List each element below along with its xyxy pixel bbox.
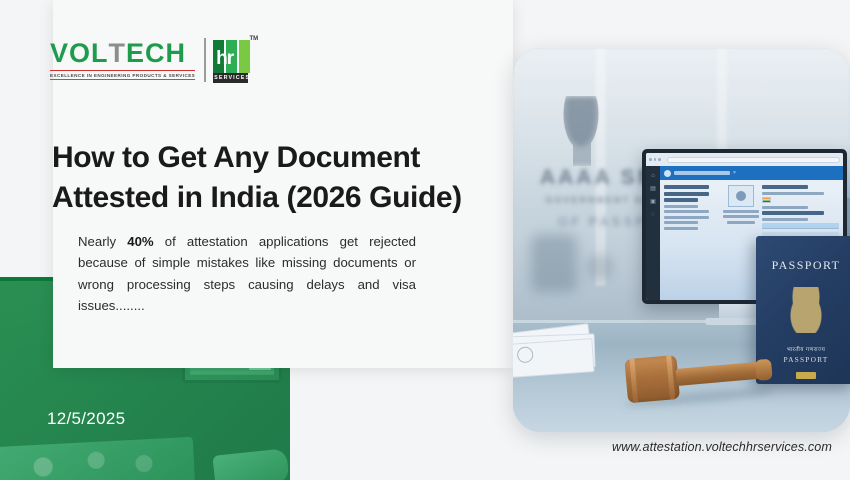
blurred-office-shape-b	[587, 254, 613, 280]
browser-dot-icon	[649, 158, 652, 161]
portal-sidebar: ⌂ ▤ ▣ ◌	[646, 166, 660, 300]
hero-photo-card: AAAA SMIRT GOVERNMENT SERVICES OF PASSPO…	[513, 48, 850, 432]
portal-label	[664, 185, 709, 189]
passport-title: PASSPORT	[756, 258, 850, 273]
logo-wordmark-text: VOLTECH	[50, 40, 195, 67]
portal-field	[762, 192, 824, 195]
portal-section-heading	[762, 185, 808, 189]
logo-divider	[204, 38, 206, 82]
portal-label	[664, 205, 698, 208]
portal-label	[664, 210, 709, 213]
subtext-highlight: 40%	[127, 234, 153, 249]
blurred-office-shape-a	[531, 234, 577, 292]
page-title: How to Get Any Document Attested in Indi…	[52, 138, 502, 217]
trademark-icon: TM	[250, 36, 259, 42]
portal-field	[727, 221, 756, 224]
sidebar-doc-icon: ▤	[650, 186, 656, 192]
portal-title-text	[674, 171, 730, 175]
hr-mark-letters: hr	[216, 49, 233, 68]
logo-tagline: EXCELLENCE IN ENGINEERING PRODUCTS & SER…	[50, 70, 195, 80]
india-flag-icon	[762, 197, 771, 203]
ashoka-emblem-icon	[786, 287, 826, 333]
subtext-before: Nearly	[78, 234, 127, 249]
hr-mark-label: SERVICES	[213, 73, 248, 83]
portal-left-column	[664, 185, 720, 295]
portal-photo-column	[723, 185, 759, 295]
logo-wordmark: VOLTECH EXCELLENCE IN ENGINEERING PRODUC…	[50, 40, 195, 80]
portal-emblem-icon	[664, 170, 671, 177]
portal-title-bar: ×	[660, 166, 843, 180]
browser-toolbar	[646, 153, 843, 166]
wall-emblem-icon	[555, 96, 607, 166]
window-close-icon: ×	[733, 170, 736, 176]
voltech-logo[interactable]: VOLTECH EXCELLENCE IN ENGINEERING PRODUC…	[50, 34, 255, 86]
portal-label	[664, 198, 698, 202]
sidebar-lock-icon: ▣	[650, 199, 656, 205]
browser-url-bar	[667, 157, 840, 163]
portal-section-heading	[762, 211, 824, 215]
passport-chip-icon	[796, 372, 816, 379]
logo-text-ech: ECH	[126, 40, 186, 67]
portal-field	[723, 210, 759, 213]
publish-date: 12/5/2025	[47, 409, 125, 429]
portal-field	[723, 215, 759, 218]
gavel-handle	[675, 361, 768, 386]
stacked-documents	[513, 325, 596, 377]
portal-label	[664, 192, 709, 196]
portal-field	[762, 206, 808, 209]
portal-label	[664, 221, 698, 224]
browser-dot-icon	[654, 158, 657, 161]
browser-dot-icon	[658, 158, 661, 161]
sidebar-chat-icon: ◌	[651, 212, 655, 218]
applicant-photo-icon	[728, 185, 754, 207]
hr-services-mark: hr SERVICES TM	[213, 36, 255, 84]
logo-text-vol: VOL	[50, 40, 109, 67]
website-url[interactable]: www.attestation.voltechhrservices.com	[612, 440, 832, 454]
gavel-head	[624, 355, 680, 403]
subtitle-paragraph: Nearly 40% of attestation applications g…	[78, 231, 416, 317]
portal-table-row	[762, 223, 839, 229]
sidebar-home-icon: ⌂	[651, 173, 655, 179]
portal-field	[762, 218, 808, 221]
portal-label	[664, 227, 698, 230]
logo-text-t: T	[109, 40, 127, 67]
portal-label	[664, 216, 709, 219]
